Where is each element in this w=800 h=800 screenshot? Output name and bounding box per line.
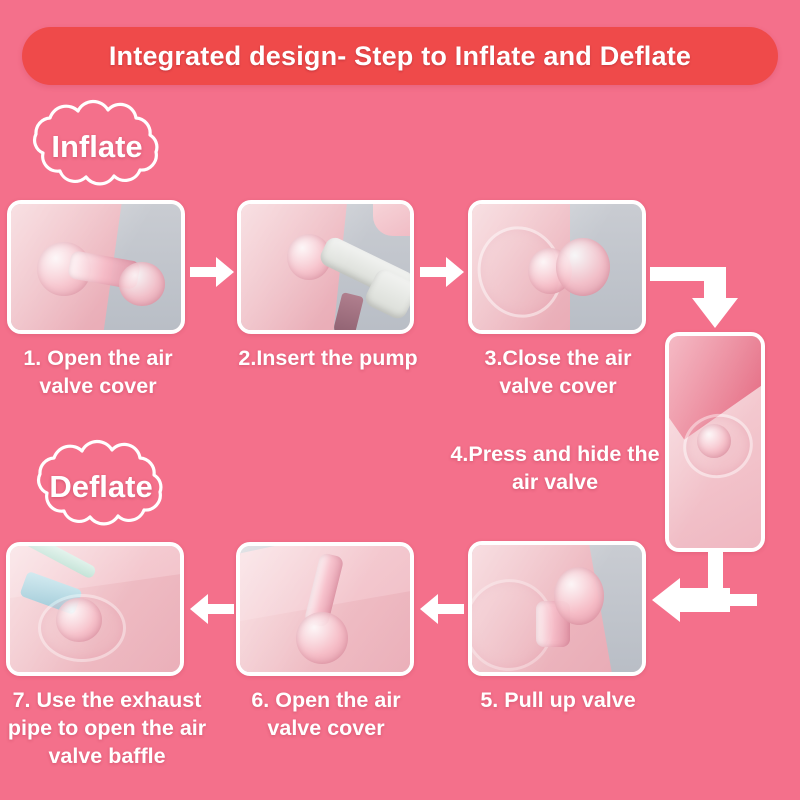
- arrow-left-icon-step6-to-step5: [420, 592, 464, 626]
- section-label-inflate-text: Inflate: [8, 104, 186, 192]
- arrow-right-icon-step1-to-step2: [190, 255, 234, 289]
- page-title: Integrated design- Step to Inflate and D…: [109, 41, 691, 72]
- step-caption-5: 5. Pull up valve: [456, 686, 660, 714]
- step-photo-5: [468, 541, 646, 676]
- step-photo-2-scene: [241, 204, 410, 330]
- title-banner: Integrated design- Step to Inflate and D…: [22, 27, 778, 85]
- step-photo-4: [665, 332, 765, 552]
- infographic-canvas: Integrated design- Step to Inflate and D…: [0, 0, 800, 800]
- step-caption-3: 3.Close the air valve cover: [460, 344, 656, 400]
- arrow-elbow-down-icon-step3-to-step4: [650, 256, 750, 334]
- arrow-elbow-left-icon-step4-to-step5: [650, 550, 766, 632]
- arrow-left-icon-step7-to-step6: [190, 592, 234, 626]
- step-photo-5-scene: [472, 545, 642, 672]
- arrow-right-icon-step2-to-step3: [420, 255, 464, 289]
- step-photo-3: [468, 200, 646, 334]
- section-label-inflate: Inflate: [8, 104, 186, 192]
- step-caption-4: 4.Press and hide the air valve: [440, 440, 670, 496]
- step-photo-2: [237, 200, 414, 334]
- step-photo-4-scene: [669, 336, 761, 548]
- step-caption-1: 1. Open the air valve cover: [0, 344, 196, 400]
- step-photo-7: [6, 542, 184, 676]
- step-photo-6: [236, 542, 414, 676]
- section-label-deflate-text: Deflate: [12, 444, 190, 532]
- step-photo-7-scene: [10, 546, 180, 672]
- step-photo-1: [7, 200, 185, 334]
- step-photo-3-scene: [472, 204, 642, 330]
- step-caption-2: 2.Insert the pump: [230, 344, 426, 372]
- section-label-deflate: Deflate: [12, 444, 190, 532]
- step-photo-6-scene: [240, 546, 410, 672]
- step-caption-6: 6. Open the air valve cover: [228, 686, 424, 742]
- step-caption-7: 7. Use the exhaust pipe to open the air …: [0, 686, 214, 770]
- step-photo-1-scene: [11, 204, 181, 330]
